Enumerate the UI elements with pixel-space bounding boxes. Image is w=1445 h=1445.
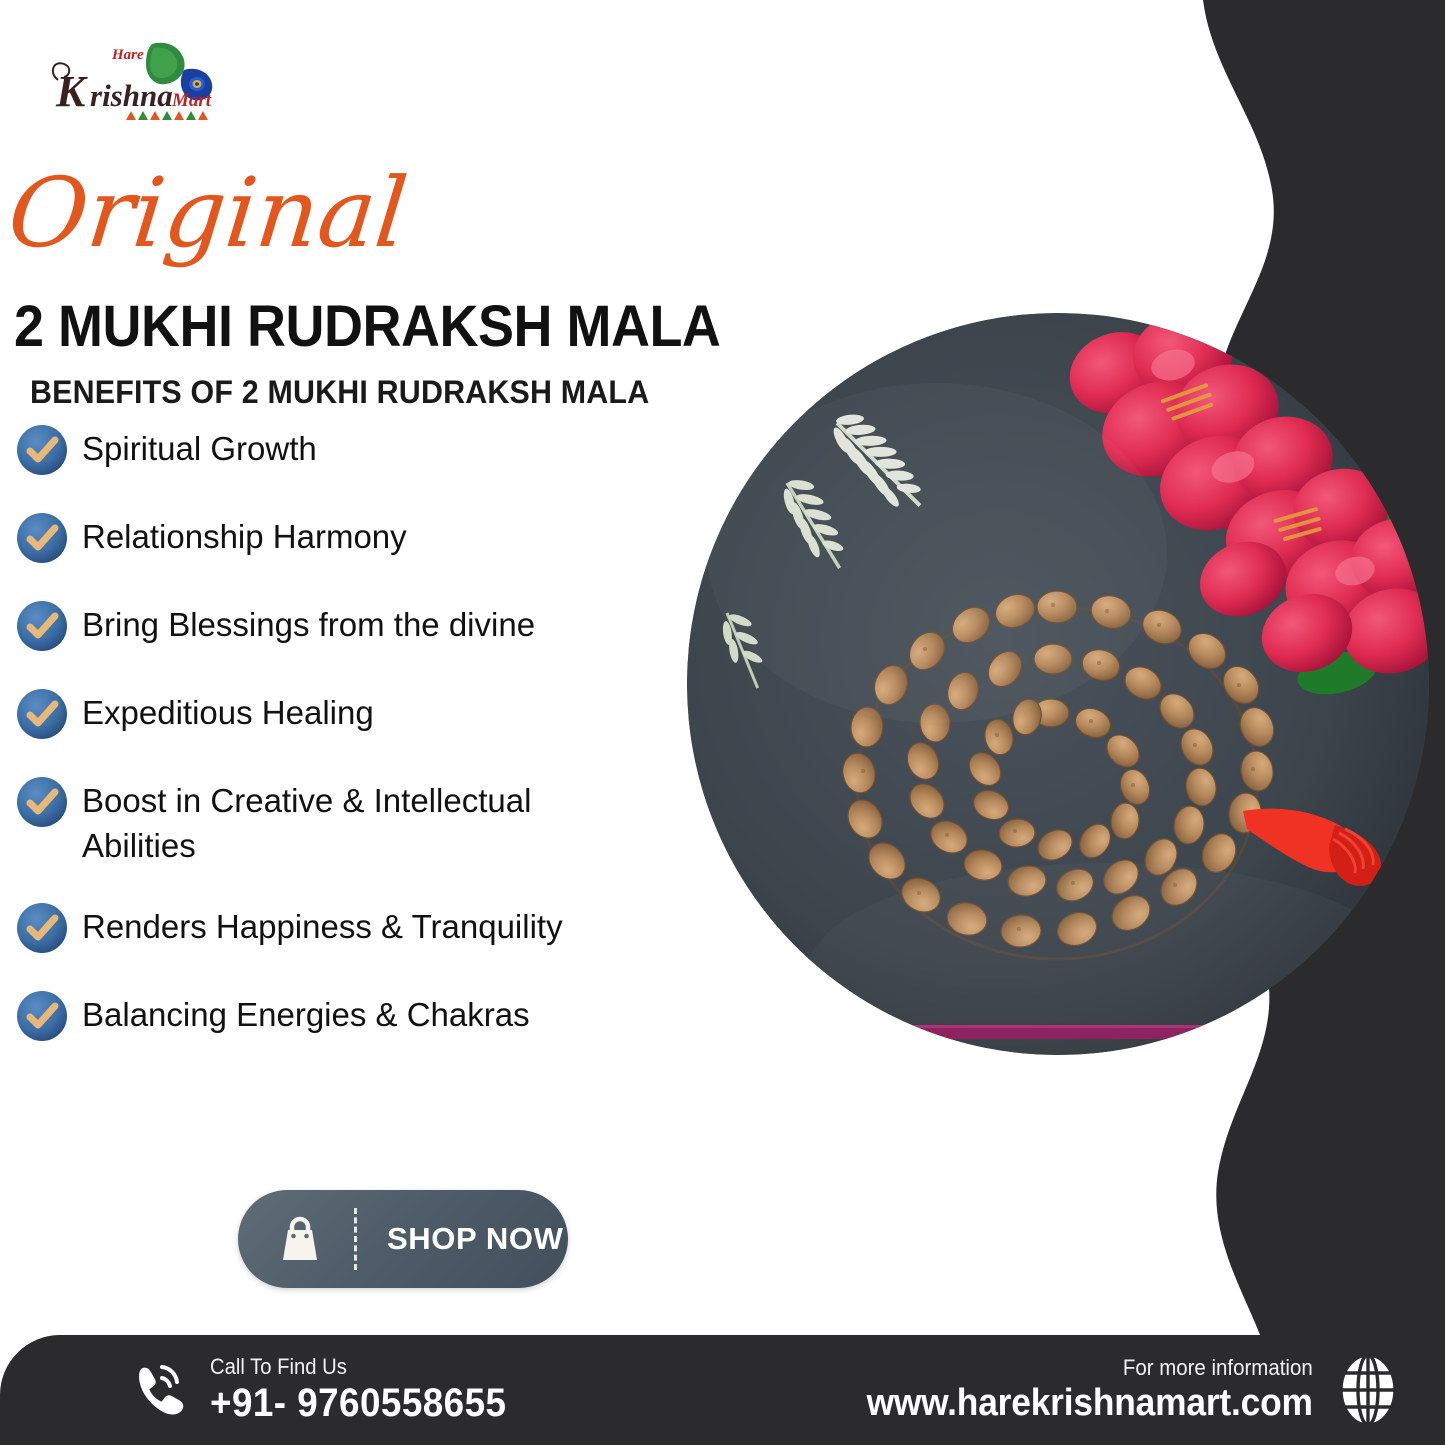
page-subtitle: BENEFITS OF 2 MUKHI RUDRAKSH MALA: [30, 374, 649, 410]
info-caption: For more information: [867, 1355, 1313, 1381]
list-item-label: Balancing Energies & Chakras: [82, 990, 530, 1037]
shop-now-button[interactable]: SHOP NOW: [238, 1190, 568, 1288]
website-url[interactable]: www.harekrishnamart.com: [867, 1381, 1313, 1425]
list-item-label: Expeditious Healing: [82, 688, 374, 735]
svg-text:rishna: rishna: [90, 78, 173, 113]
svg-text:K: K: [55, 67, 88, 116]
check-circle-icon: [16, 902, 68, 954]
list-item: Expeditious Healing: [16, 688, 696, 740]
list-item-label: Renders Happiness & Tranquility: [82, 902, 563, 949]
list-item-label: Bring Blessings from the divine: [82, 600, 535, 647]
poster-canvas: Hare K rishna Mart Original 2: [0, 0, 1445, 1445]
shop-now-label: SHOP NOW: [387, 1221, 563, 1257]
list-item-label: Relationship Harmony: [82, 512, 407, 559]
footer-web-block: For more information www.harekrishnamart…: [833, 1353, 1405, 1427]
check-circle-icon: [16, 688, 68, 740]
svg-text:Hare: Hare: [111, 47, 144, 63]
call-caption: Call To Find Us: [210, 1354, 506, 1380]
original-script-word: Original: [10, 150, 430, 280]
brand-logo[interactable]: Hare K rishna Mart: [34, 32, 234, 140]
page-title: 2 MUKHI RUDRAKSH MALA: [14, 296, 720, 358]
original-word-text: Original: [10, 157, 412, 269]
check-circle-icon: [16, 776, 68, 828]
globe-icon: [1331, 1353, 1405, 1427]
check-circle-icon: [16, 512, 68, 564]
footer-call-block: Call To Find Us +91- 9760558655: [128, 1354, 532, 1426]
svg-text:Mart: Mart: [171, 90, 212, 111]
shopping-bag-icon: [272, 1211, 328, 1267]
contact-footer: Call To Find Us +91- 9760558655 For more…: [0, 1335, 1445, 1445]
check-circle-icon: [16, 424, 68, 476]
check-circle-icon: [16, 600, 68, 652]
cta-divider: [354, 1208, 357, 1270]
list-item: Renders Happiness & Tranquility: [16, 902, 696, 954]
product-photo: [687, 313, 1429, 1055]
list-item: Balancing Energies & Chakras: [16, 990, 696, 1042]
check-circle-icon: [16, 990, 68, 1042]
benefits-list: Spiritual Growth Relationship Harmony Br…: [16, 424, 696, 1078]
phone-ringing-icon: [128, 1359, 190, 1421]
list-item: Boost in Creative & Intellectual Abiliti…: [16, 776, 696, 868]
list-item-label: Spiritual Growth: [82, 424, 317, 471]
list-item: Relationship Harmony: [16, 512, 696, 564]
phone-number[interactable]: +91- 9760558655: [210, 1380, 506, 1426]
list-item-label: Boost in Creative & Intellectual Abiliti…: [82, 776, 642, 868]
list-item: Spiritual Growth: [16, 424, 696, 476]
list-item: Bring Blessings from the divine: [16, 600, 696, 652]
